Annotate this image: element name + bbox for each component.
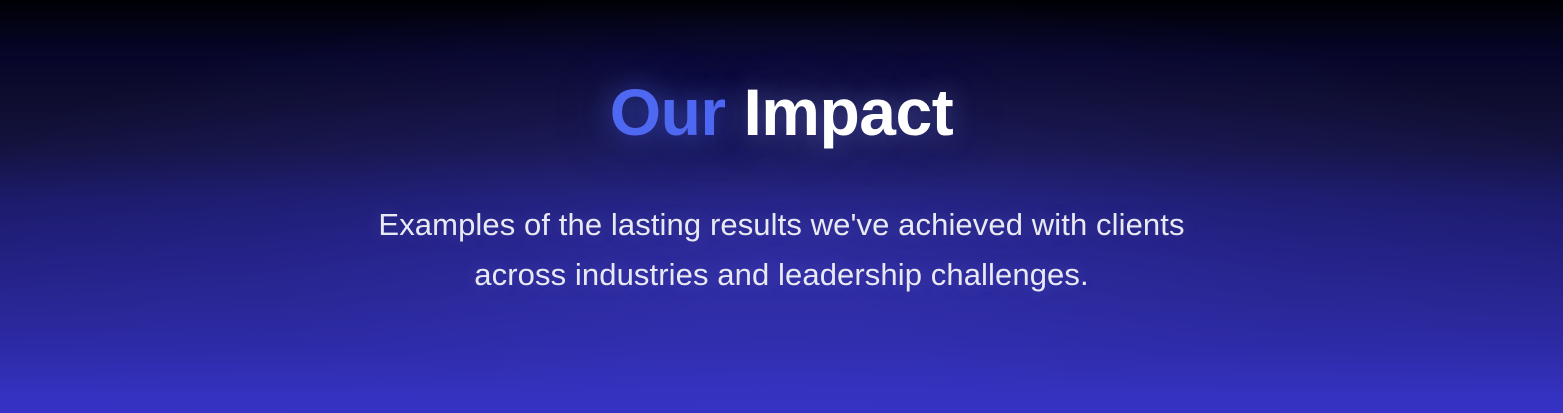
page-title: Our Impact: [0, 0, 1563, 148]
hero-subtitle: Examples of the lasting results we've ac…: [0, 148, 1563, 300]
hero-content: Our Impact Examples of the lasting resul…: [0, 0, 1563, 300]
hero-subtitle-line-2: across industries and leadership challen…: [0, 250, 1563, 300]
page-title-accent-word: Our: [610, 75, 726, 149]
our-impact-hero-section: Our Impact Examples of the lasting resul…: [0, 0, 1563, 413]
page-title-main-word: Impact: [743, 75, 953, 149]
hero-subtitle-line-1: Examples of the lasting results we've ac…: [0, 200, 1563, 250]
